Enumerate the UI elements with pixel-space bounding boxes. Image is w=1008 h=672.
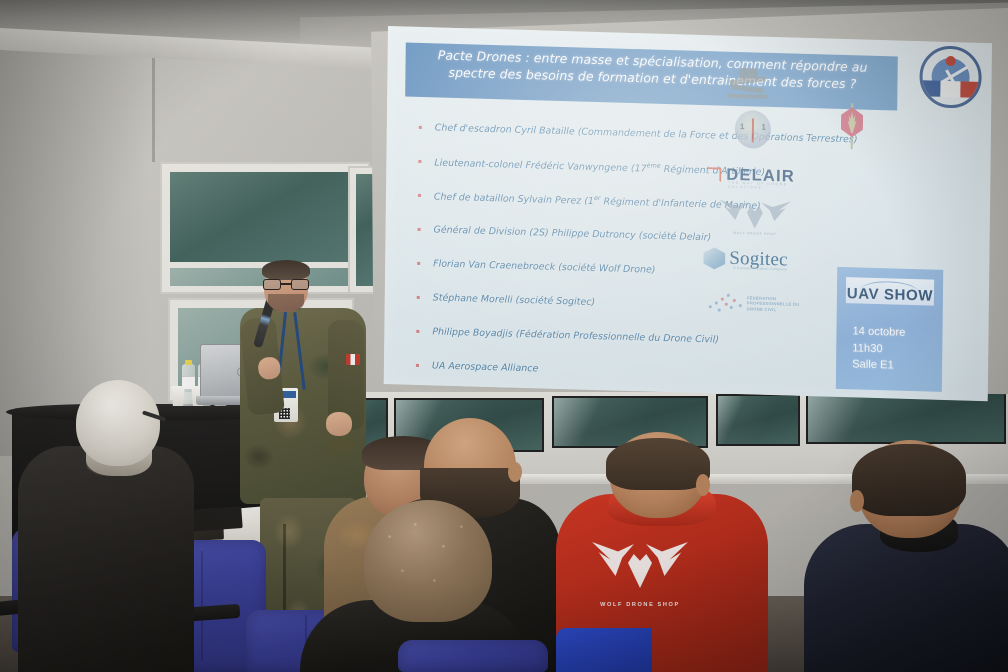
speaker-left-hand (257, 356, 281, 380)
eyeglasses (263, 279, 309, 290)
uav-show-info-panel: UAV SHOW 14 octobre 11h30 Salle E1 (836, 267, 943, 392)
wolf-drone-shop-jacket-logo: WOLF DRONE SHOP (592, 542, 688, 598)
cavalry-insignia-icon (725, 64, 770, 107)
uav-show-logo: UAV SHOW (846, 277, 934, 306)
attendee-dark-suit (818, 440, 1008, 672)
insignia-regiment-number-right: 1 (761, 123, 766, 132)
attendee-red-wolf-drone-shop-jacket: WOLF DRONE SHOP (556, 432, 768, 672)
delair-mark-icon (706, 167, 721, 182)
jacket-logo-text: WOLF DRONE SHOP (600, 602, 680, 608)
attendee-ear (696, 474, 710, 496)
slide-content: Pacte Drones : entre masse et spécialisa… (366, 8, 1008, 404)
attendee-ear (508, 462, 522, 482)
wall-corner (152, 42, 155, 162)
event-date: 14 octobre (852, 323, 905, 341)
delair-logo: DELAIR THE WAY OF DRONE SOLUTIONS (706, 161, 814, 190)
projection-screen: Pacte Drones : entre masse et spécialisa… (366, 8, 1008, 404)
uav-show-arc-icon (860, 281, 918, 293)
delair-tagline: THE WAY OF DRONE SOLUTIONS (728, 181, 814, 191)
attendee-head (76, 380, 160, 466)
attendee-blue-sleeve (556, 628, 652, 672)
wolf-drone-shop-logo: WOLF DRONE SHOP (719, 197, 791, 237)
presentation-photo-scene: Pacte Drones : entre masse et spécialisa… (0, 0, 1008, 672)
attendee-head (364, 500, 492, 622)
attendee-white-hair-black-jacket (0, 380, 190, 672)
sogitec-tagline: A Dassault Aviation Company (733, 266, 787, 272)
chair[interactable] (398, 640, 548, 672)
speaker-beard (268, 294, 304, 312)
event-time: 11h30 (852, 340, 905, 358)
attendee-hair (606, 438, 710, 490)
insignia-regiment-number: 1 (740, 122, 745, 131)
speaker-right-hand (326, 412, 352, 436)
window-glass (170, 172, 360, 262)
wolf-drone-shop-wordmark: WOLF DRONE SHOP (733, 231, 776, 236)
speaker-hair (262, 260, 310, 280)
attendee-ear (850, 490, 864, 512)
attendee-body (18, 446, 194, 672)
sogitec-logo: Sogitec A Dassault Aviation Company (703, 243, 819, 276)
slide-canvas: Pacte Drones : entre masse et spécialisa… (384, 26, 992, 401)
fpdc-wordmark: FÉDÉRATION PROFESSIONNELLE DU DRONE CIVI… (747, 295, 811, 313)
sogitec-cube-icon (703, 247, 725, 270)
event-room: Salle E1 (852, 356, 905, 374)
fpdc-dots-icon (707, 289, 745, 314)
event-details: 14 octobre 11h30 Salle E1 (852, 323, 905, 374)
flag-patch-icon (346, 354, 360, 365)
fpdc-logo: FÉDÉRATION PROFESSIONNELLE DU DRONE CIVI… (707, 289, 811, 320)
marine-infantry-insignia-icon: 1 1 (735, 110, 771, 149)
artillery-insignia-icon (839, 103, 866, 150)
attendee-hair (852, 444, 966, 516)
